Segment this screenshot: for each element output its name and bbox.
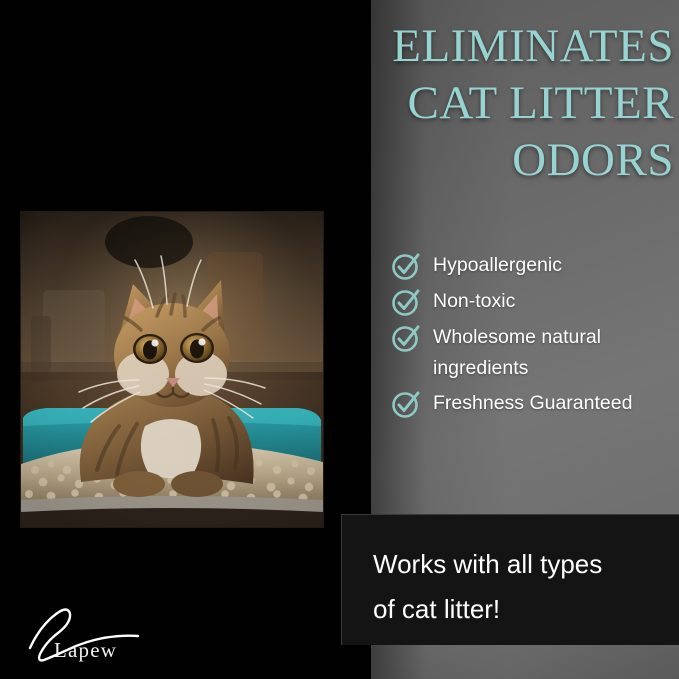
kitten-photo [21, 212, 323, 527]
headline-line-3: ODORS [286, 132, 674, 189]
feature-item: Freshness Guaranteed [391, 388, 679, 420]
feature-label: Non-toxic [433, 286, 515, 317]
caption-line-2: of cat litter! [373, 587, 663, 632]
feature-label: Wholesome natural ingredients [433, 322, 673, 384]
headline: ELIMINATES CAT LITTER ODORS [286, 18, 674, 189]
brand-name: Lapew [54, 638, 117, 663]
feature-label: Hypoallergenic [433, 250, 562, 281]
advertisement-image: ELIMINATES CAT LITTER ODORS [0, 0, 679, 679]
kitten-photo-illustration [21, 212, 323, 527]
feature-item: Wholesome natural ingredients [391, 322, 679, 384]
check-circle-icon [391, 251, 421, 281]
headline-line-1: ELIMINATES [286, 18, 674, 75]
headline-line-2: CAT LITTER [286, 75, 674, 132]
check-circle-icon [391, 389, 421, 419]
feature-item: Non-toxic [391, 286, 679, 318]
caption-text: Works with all types of cat litter! [373, 542, 663, 632]
caption-box: Works with all types of cat litter! [341, 514, 679, 645]
check-circle-icon [391, 323, 421, 353]
feature-item: Hypoallergenic [391, 250, 679, 282]
feature-label: Freshness Guaranteed [433, 388, 632, 419]
feature-list: Hypoallergenic Non-toxic Wholesome natur… [391, 250, 679, 424]
caption-line-1: Works with all types [373, 542, 663, 587]
check-circle-icon [391, 287, 421, 317]
